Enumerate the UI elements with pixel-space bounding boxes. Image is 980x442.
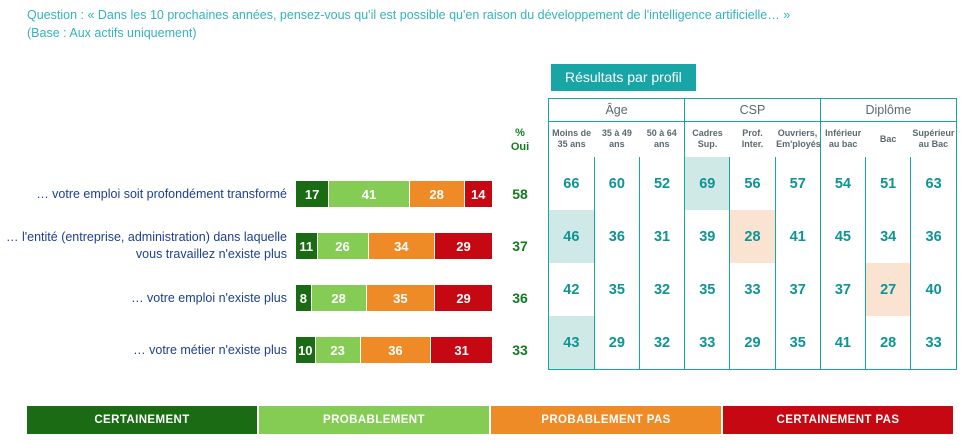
bar-row-label: … votre métier n'existe plus xyxy=(0,342,296,359)
group-header-row: ÂgeCSPDiplôme xyxy=(549,99,956,121)
table-cell: 27 xyxy=(866,263,911,316)
table-cell: 36 xyxy=(594,210,639,263)
bar-segment: 8 xyxy=(296,285,312,311)
results-by-profile-table: ÂgeCSPDiplôme Moins de 35 ans35 à 49 ans… xyxy=(548,98,957,370)
table-row: 463631392841453436 xyxy=(549,210,956,263)
subheader-row: Moins de 35 ans35 à 49 ans50 à 64 ansCad… xyxy=(549,121,956,157)
table-cell: 33 xyxy=(730,263,775,316)
bar-segment: 17 xyxy=(296,181,329,207)
group-header-diplme: Diplôme xyxy=(820,99,956,121)
column-header: 35 à 49 ans xyxy=(594,121,639,157)
bar-row: … l'entité (entreprise, administration) … xyxy=(0,220,540,272)
table-cell: 41 xyxy=(775,210,820,263)
bar-segment: 11 xyxy=(296,233,318,259)
percent-oui-value: 58 xyxy=(500,186,540,202)
bar-row: … votre emploi soit profondément transfo… xyxy=(0,168,540,220)
column-header: Inférieur au bac xyxy=(820,121,865,157)
bar-segment: 29 xyxy=(435,233,492,259)
table-cell: 41 xyxy=(820,316,865,369)
table-cell: 69 xyxy=(685,157,730,210)
table-cell: 63 xyxy=(911,157,956,210)
column-header: Supérieur au Bac xyxy=(911,121,956,157)
column-header: Bac xyxy=(866,121,911,157)
table-cell: 52 xyxy=(639,157,684,210)
bar-stack: 11263429 xyxy=(296,233,492,259)
table-cell: 29 xyxy=(594,316,639,369)
percent-oui-value: 33 xyxy=(500,342,540,358)
bar-stack: 17412814 xyxy=(296,181,492,207)
table-cell: 32 xyxy=(639,316,684,369)
bar-segment: 29 xyxy=(435,285,492,311)
table-cell: 28 xyxy=(730,210,775,263)
bar-stack: 10233631 xyxy=(296,337,492,363)
bar-row-label: … votre emploi n'existe plus xyxy=(0,290,296,307)
bar-row: … votre métier n'existe plus1023363133 xyxy=(0,324,540,376)
question-block: Question : « Dans les 10 prochaines anné… xyxy=(27,6,937,42)
bar-segment: 36 xyxy=(361,337,432,363)
table-cell: 66 xyxy=(549,157,594,210)
bar-segment: 31 xyxy=(431,337,492,363)
bar-segment: 34 xyxy=(369,233,436,259)
table-cell: 56 xyxy=(730,157,775,210)
profile-data-table: ÂgeCSPDiplôme Moins de 35 ans35 à 49 ans… xyxy=(549,99,956,369)
group-header-ge: Âge xyxy=(549,99,685,121)
bar-segment: 41 xyxy=(329,181,409,207)
bar-segment: 10 xyxy=(296,337,316,363)
bar-stack: 8283529 xyxy=(296,285,492,311)
bar-segment: 35 xyxy=(367,285,436,311)
table-cell: 42 xyxy=(549,263,594,316)
table-cell: 31 xyxy=(639,210,684,263)
table-row: 432932332935412833 xyxy=(549,316,956,369)
legend-item: PROBABLEMENT xyxy=(259,406,491,434)
legend-item: CERTAINEMENT xyxy=(27,406,259,434)
percent-oui-value: 37 xyxy=(500,238,540,254)
column-header: 50 à 64 ans xyxy=(639,121,684,157)
percent-oui-header: % Oui xyxy=(500,126,540,154)
column-header: Moins de 35 ans xyxy=(549,121,594,157)
table-cell: 45 xyxy=(820,210,865,263)
table-cell: 35 xyxy=(775,316,820,369)
table-cell: 54 xyxy=(820,157,865,210)
table-cell: 37 xyxy=(775,263,820,316)
percent-oui-value: 36 xyxy=(500,290,540,306)
bar-row-label: … l'entité (entreprise, administration) … xyxy=(0,229,296,263)
table-cell: 35 xyxy=(685,263,730,316)
group-header-csp: CSP xyxy=(685,99,821,121)
legend-item: CERTAINEMENT PAS xyxy=(723,406,953,434)
table-cell: 32 xyxy=(639,263,684,316)
table-cell: 46 xyxy=(549,210,594,263)
table-cell: 34 xyxy=(866,210,911,263)
bar-segment: 28 xyxy=(312,285,367,311)
percent-symbol: % xyxy=(500,126,540,140)
bar-segment: 26 xyxy=(318,233,369,259)
table-cell: 33 xyxy=(685,316,730,369)
table-row: 423532353337372740 xyxy=(549,263,956,316)
bar-segment: 28 xyxy=(410,181,465,207)
table-row: 666052695657545163 xyxy=(549,157,956,210)
column-header: Ouvriers, Em'ployés xyxy=(775,121,820,157)
bar-row: … votre emploi n'existe plus828352936 xyxy=(0,272,540,324)
column-header: Cadres Sup. xyxy=(685,121,730,157)
question-base-line: (Base : Aux actifs uniquement) xyxy=(27,24,937,42)
stacked-bar-chart: … votre emploi soit profondément transfo… xyxy=(0,168,540,376)
table-cell: 28 xyxy=(866,316,911,369)
table-cell: 33 xyxy=(911,316,956,369)
question-text-line-1: Question : « Dans les 10 prochaines anné… xyxy=(27,6,937,24)
column-header: Prof. Inter. xyxy=(730,121,775,157)
table-cell: 39 xyxy=(685,210,730,263)
table-cell: 35 xyxy=(594,263,639,316)
table-cell: 37 xyxy=(820,263,865,316)
table-cell: 40 xyxy=(911,263,956,316)
results-by-profile-badge: Résultats par profil xyxy=(551,64,696,91)
table-cell: 43 xyxy=(549,316,594,369)
bar-row-label: … votre emploi soit profondément transfo… xyxy=(0,186,296,203)
table-cell: 60 xyxy=(594,157,639,210)
table-cell: 29 xyxy=(730,316,775,369)
table-cell: 57 xyxy=(775,157,820,210)
oui-label: Oui xyxy=(500,140,540,154)
bar-segment: 14 xyxy=(465,181,492,207)
legend-item: PROBABLEMENT PAS xyxy=(491,406,723,434)
legend: CERTAINEMENTPROBABLEMENTPROBABLEMENT PAS… xyxy=(27,406,953,434)
table-cell: 36 xyxy=(911,210,956,263)
bar-segment: 23 xyxy=(316,337,361,363)
table-cell: 51 xyxy=(866,157,911,210)
